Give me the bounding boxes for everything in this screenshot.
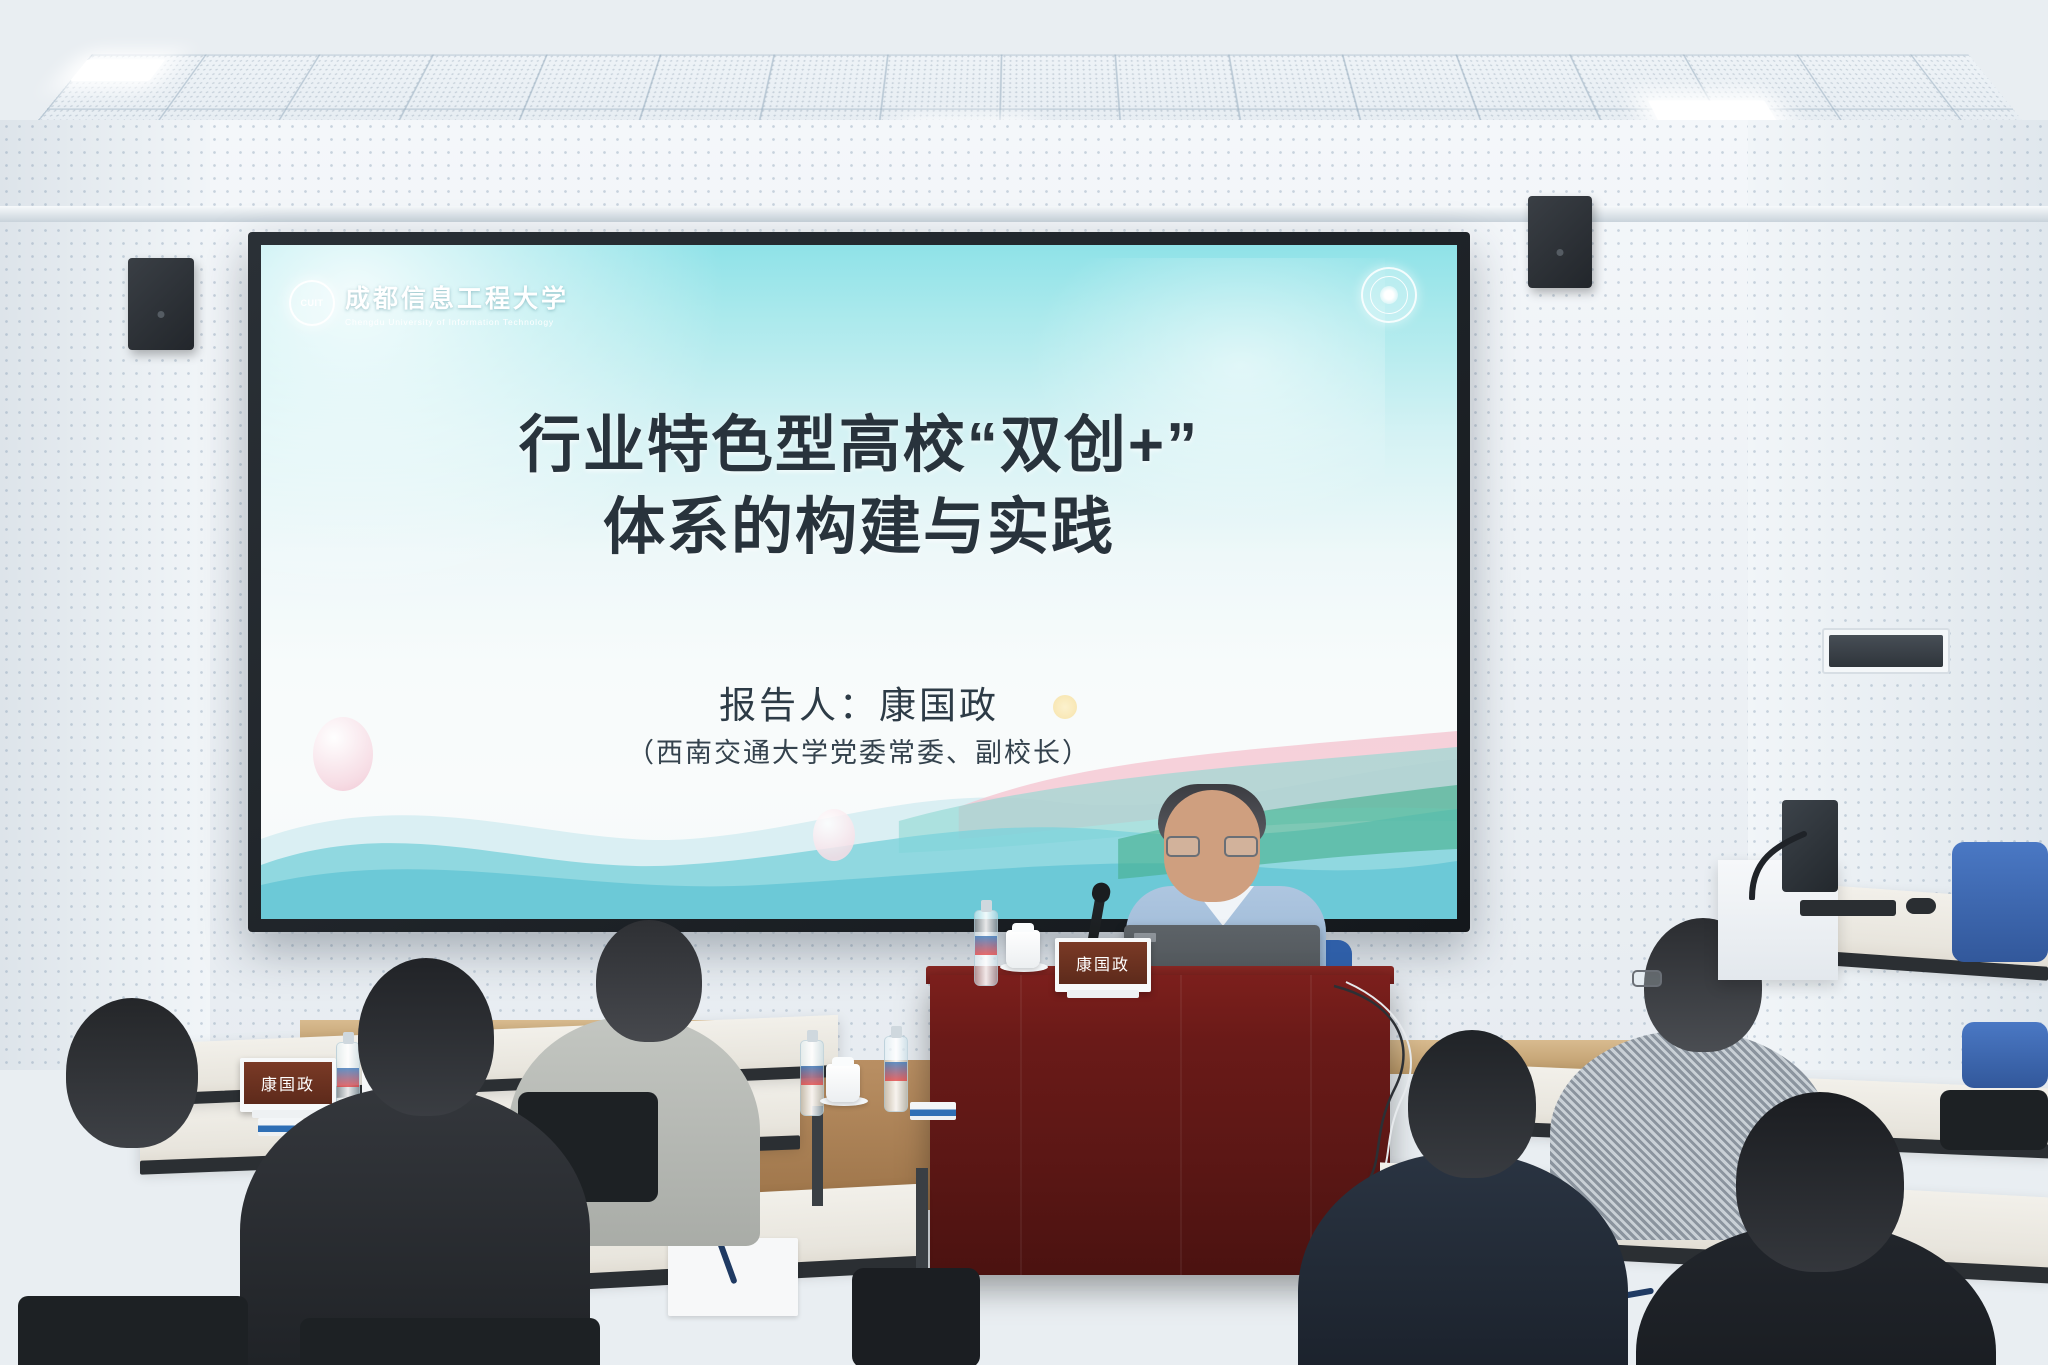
university-name-cn: 成都信息工程大学: [345, 279, 569, 315]
desk-leg: [812, 1106, 823, 1206]
control-desk-microphone: [1746, 810, 1816, 900]
slide-bubble: [313, 717, 373, 791]
control-desk-keyboard[interactable]: [1800, 900, 1896, 916]
slide-title-line2: 体系的构建与实践: [261, 487, 1457, 569]
wall-sign: [1822, 628, 1950, 674]
backpack: [852, 1268, 980, 1365]
slide-bubble: [813, 809, 855, 861]
slide-bubble: [1053, 695, 1077, 719]
control-desk-chair-dark[interactable]: [1940, 1090, 2048, 1150]
person-head: [358, 958, 494, 1116]
cuit-logo-icon: CUIT: [289, 280, 335, 326]
audience-nameplate: 康国政: [240, 1058, 336, 1112]
slide-university-logo: CUIT 成都信息工程大学 Chengdu University of Info…: [289, 279, 569, 327]
audience-chair: [300, 1318, 600, 1365]
bottle-label: [885, 1062, 907, 1081]
lecture-hall-scene: CUIT 成都信息工程大学 Chengdu University of Info…: [0, 0, 2048, 1365]
speaker-glasses: [1166, 836, 1258, 858]
person-head: [66, 998, 198, 1148]
bottle-label: [801, 1066, 823, 1085]
wall-sign-label: [1829, 635, 1943, 667]
control-desk-mouse[interactable]: [1906, 898, 1936, 914]
person-head: [1408, 1030, 1536, 1178]
left-wall-speaker: [128, 258, 194, 350]
control-desk-chair[interactable]: [1952, 842, 2048, 962]
presenter-nameplate-text: 康国政: [1059, 942, 1147, 984]
slide-title-line1: 行业特色型高校“双创+”: [519, 411, 1199, 480]
tissue-box[interactable]: [910, 1102, 956, 1120]
slide-title: 行业特色型高校“双创+” 体系的构建与实践: [261, 405, 1457, 569]
person-head: [1736, 1092, 1904, 1272]
person-head: [596, 920, 702, 1042]
wall-rail: [0, 206, 2048, 222]
presenter-nameplate: 康国政: [1055, 938, 1151, 992]
person-glasses: [1632, 970, 1674, 988]
right-wall-speaker: [1528, 196, 1592, 288]
control-desk-chair[interactable]: [1962, 1022, 2048, 1088]
bottle-label: [975, 936, 997, 955]
water-bottle[interactable]: [974, 910, 998, 986]
water-bottle[interactable]: [800, 1040, 824, 1116]
bottle-label: [337, 1068, 359, 1087]
water-bottle[interactable]: [884, 1036, 908, 1112]
ceiling-light: [70, 59, 165, 80]
white-mug[interactable]: [826, 1064, 860, 1102]
university-name-en: Chengdu University of Information Techno…: [345, 317, 569, 327]
audience-chair: [18, 1296, 248, 1365]
white-mug[interactable]: [1006, 930, 1040, 968]
audience-nameplate-text: 康国政: [244, 1062, 332, 1104]
university-emblem-icon: [1361, 267, 1417, 323]
